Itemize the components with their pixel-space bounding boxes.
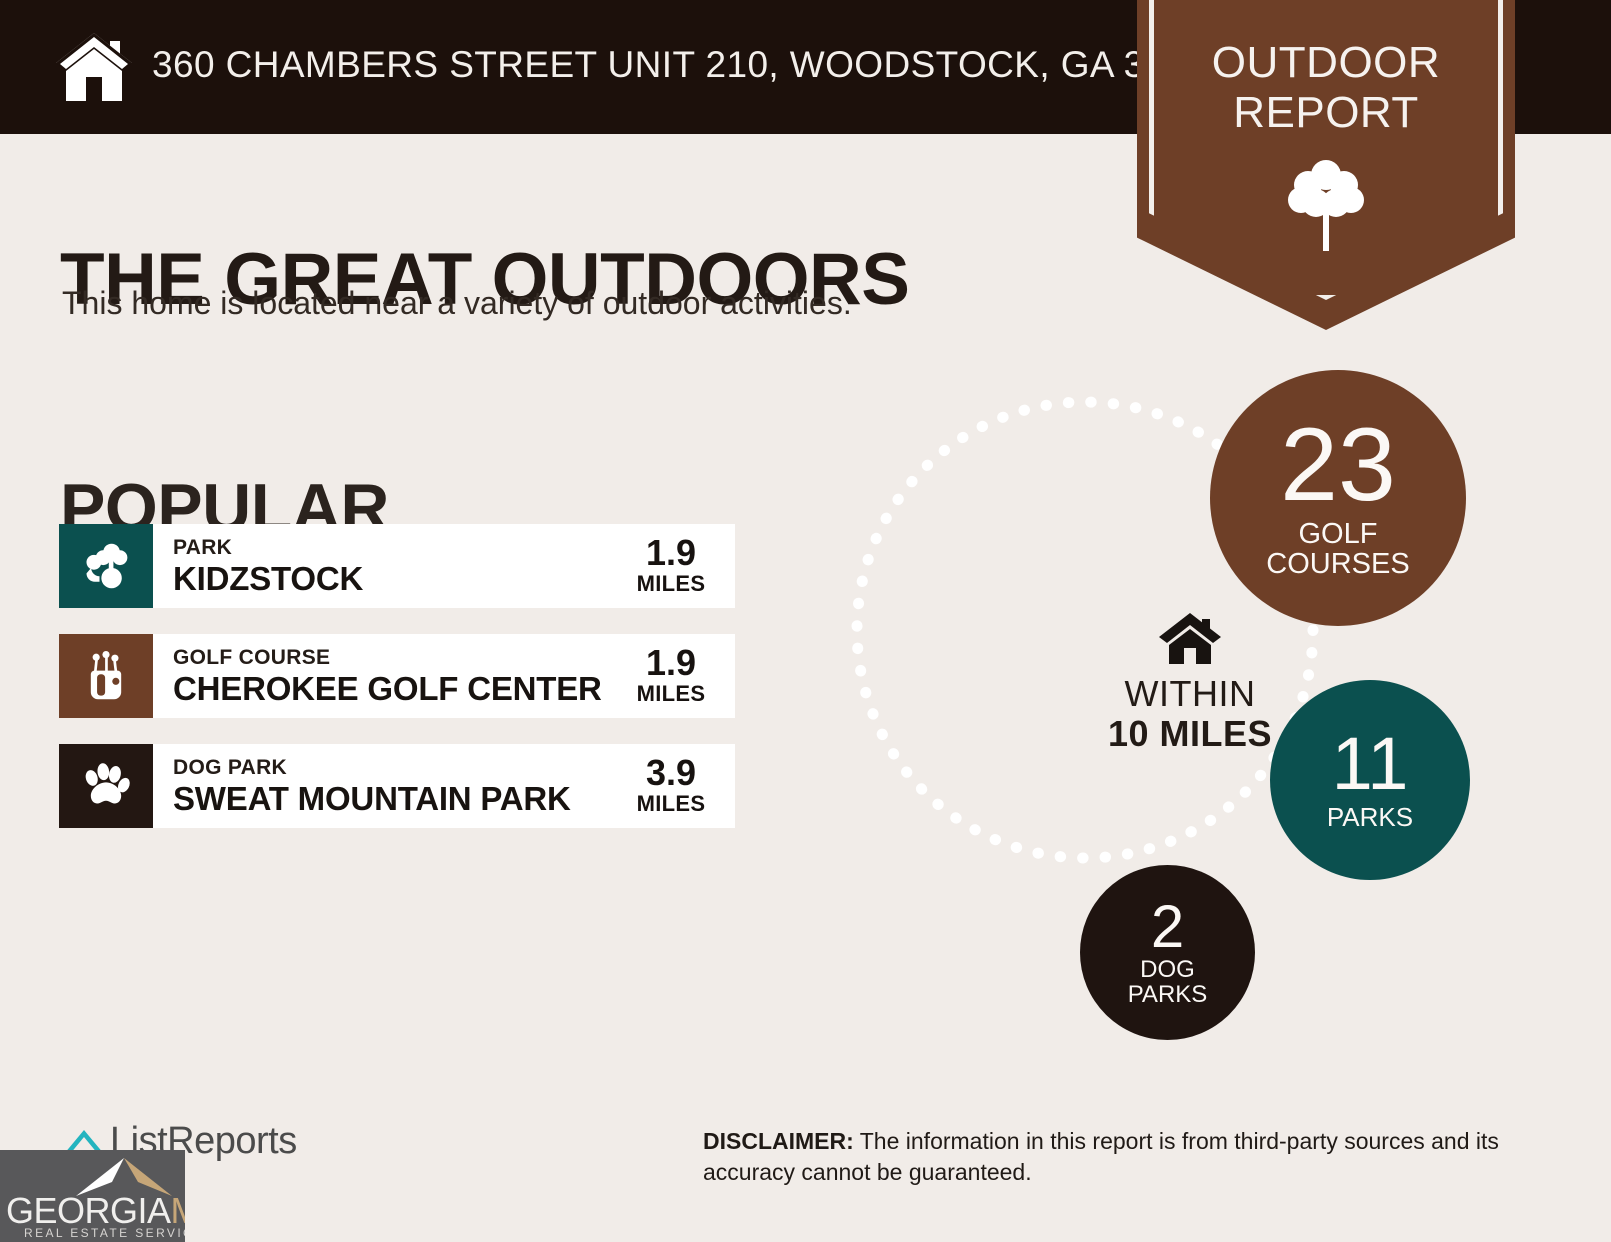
paw-print-icon — [81, 761, 131, 811]
poi-name: SWEAT MOUNTAIN PARK — [173, 780, 629, 817]
poi-distance: 1.9 MILES — [629, 524, 735, 608]
stat-label-line2: COURSES — [1266, 549, 1409, 579]
poi-icon-tile — [59, 524, 153, 608]
list-item[interactable]: DOG PARK SWEAT MOUNTAIN PARK 3.9 MILES — [59, 744, 735, 828]
stat-value: 2 — [1151, 898, 1184, 955]
poi-text: DOG PARK SWEAT MOUNTAIN PARK — [153, 744, 629, 828]
poi-distance: 3.9 MILES — [629, 744, 735, 828]
stat-label-line1: GOLF — [1266, 519, 1409, 549]
stat-label: GOLF COURSES — [1266, 519, 1409, 580]
nearby-counts-infographic: WITHIN 10 MILES 23 GOLF COURSES 11 PARKS… — [840, 360, 1540, 1060]
poi-distance-value: 1.9 — [646, 535, 696, 571]
poi-text: PARK KIDZSTOCK — [153, 524, 629, 608]
property-address: 360 CHAMBERS STREET UNIT 210, WOODSTOCK,… — [152, 44, 1229, 86]
georgiamls-word-part1: GEORGIA — [6, 1190, 171, 1231]
poi-distance-value: 1.9 — [646, 645, 696, 681]
badge-title: OUTDOOR REPORT — [1137, 38, 1515, 138]
stat-label-line1: PARKS — [1327, 804, 1413, 831]
badge-title-line1: OUTDOOR — [1212, 38, 1440, 87]
poi-icon-tile — [59, 634, 153, 718]
outdoor-report-page: 360 CHAMBERS STREET UNIT 210, WOODSTOCK,… — [0, 0, 1611, 1242]
within-radius-block: WITHIN 10 MILES — [1075, 610, 1305, 754]
poi-icon-tile — [59, 744, 153, 828]
list-item[interactable]: GOLF COURSE CHEROKEE GOLF CENTER 1.9 MIL… — [59, 634, 735, 718]
stat-dog-parks: 2 DOG PARKS — [1080, 865, 1255, 1040]
poi-text: GOLF COURSE CHEROKEE GOLF CENTER — [153, 634, 629, 718]
poi-distance-unit: MILES — [637, 791, 706, 817]
stat-golf-courses: 23 GOLF COURSES — [1210, 370, 1466, 626]
stat-label: PARKS — [1327, 804, 1413, 831]
stat-value: 23 — [1280, 416, 1396, 515]
outdoor-report-badge: OUTDOOR REPORT — [1137, 0, 1515, 330]
popular-list: PARK KIDZSTOCK 1.9 MILES — [59, 524, 735, 854]
golf-bag-icon — [81, 651, 131, 701]
stat-label-line1: DOG — [1128, 957, 1208, 982]
georgiamls-tagline: REAL ESTATE SERVICES — [24, 1226, 185, 1240]
poi-name: CHEROKEE GOLF CENTER — [173, 670, 629, 707]
tree-icon — [1284, 155, 1368, 253]
list-item[interactable]: PARK KIDZSTOCK 1.9 MILES — [59, 524, 735, 608]
poi-distance-unit: MILES — [637, 681, 706, 707]
stat-value: 11 — [1332, 729, 1409, 799]
poi-distance-unit: MILES — [637, 571, 706, 597]
page-subtitle: This home is located near a variety of o… — [62, 285, 852, 322]
georgiamls-word-part2: MLS — [171, 1190, 185, 1231]
georgiamls-logo: GEORGIAMLS REAL ESTATE SERVICES — [0, 1150, 185, 1242]
poi-distance: 1.9 MILES — [629, 634, 735, 718]
park-trees-icon — [80, 540, 132, 592]
stat-label: DOG PARKS — [1128, 957, 1208, 1007]
stat-label-line2: PARKS — [1128, 982, 1208, 1007]
home-icon — [52, 31, 136, 103]
poi-category: PARK — [173, 536, 629, 560]
badge-title-line2: REPORT — [1137, 88, 1515, 138]
poi-name: KIDZSTOCK — [173, 560, 629, 597]
stat-parks: 11 PARKS — [1270, 680, 1470, 880]
disclaimer: DISCLAIMER: The information in this repo… — [703, 1126, 1543, 1188]
within-label: WITHIN — [1075, 674, 1305, 714]
poi-distance-value: 3.9 — [646, 755, 696, 791]
within-distance: 10 MILES — [1075, 714, 1305, 754]
disclaimer-label: DISCLAIMER: — [703, 1128, 854, 1154]
poi-category: GOLF COURSE — [173, 646, 629, 670]
home-icon — [1157, 610, 1223, 666]
poi-category: DOG PARK — [173, 756, 629, 780]
